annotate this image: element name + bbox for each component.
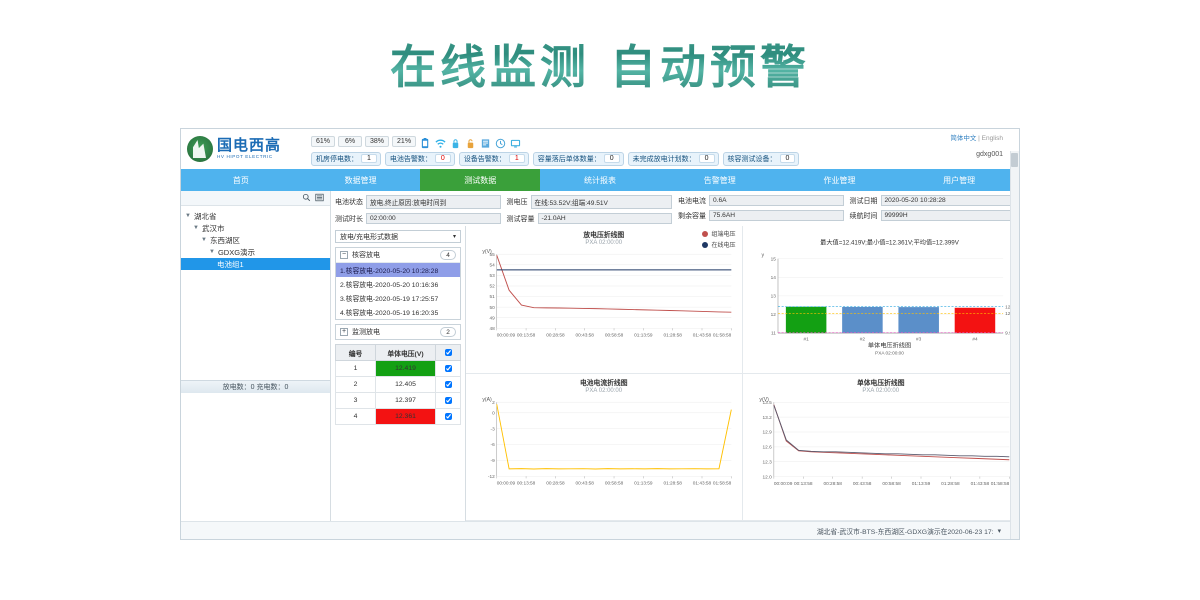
chart-canvas: 最大值=12.419V;最小值=12.361V;平均值=12.399Vy1112… <box>747 236 1016 356</box>
svg-text:00:00:09: 00:00:09 <box>773 480 792 486</box>
row-checkbox-cell[interactable] <box>436 409 461 425</box>
svg-text:01:13:59: 01:13:59 <box>634 480 653 486</box>
summary-fields: 电池状态 放电,终止原因:放电时间到 测试时长 02:00:00 测电压 在线:… <box>331 191 1019 226</box>
cell-voltage-table: 编号 单体电压(V) 1 12.419 <box>335 344 461 425</box>
svg-text:01:58:58: 01:58:58 <box>713 480 732 486</box>
svg-text:单体电压折线图: 单体电压折线图 <box>867 342 910 350</box>
table-row[interactable]: 4 12.361 <box>336 409 461 425</box>
record-panel: 放电/充电形式数据 ▾ − 核容放电 4 1.核容放电-2020-05- <box>331 226 466 521</box>
col-header-no: 编号 <box>336 345 376 361</box>
cell-voltage-bar-chart: . 最大值=12.419V;最小值=12.361V;平均值=12.399Vy11… <box>743 226 1020 374</box>
tree-node-dongxihu[interactable]: ▼ 东西湖区 <box>185 234 330 246</box>
svg-text:00:58:58: 00:58:58 <box>882 480 901 486</box>
svg-text:13: 13 <box>770 294 776 300</box>
row-checkbox[interactable] <box>445 365 452 372</box>
group-label: 监测放电 <box>352 327 380 337</box>
svg-text:12.6: 12.6 <box>762 444 772 450</box>
stat-value: 0 <box>780 154 796 163</box>
chart-canvas: y(V)484950515253545500:00:0900:13:5800:2… <box>470 246 738 349</box>
minus-icon[interactable]: − <box>340 251 348 259</box>
field-value-test-duration: 02:00:00 <box>366 213 501 224</box>
svg-text:00:28:58: 00:28:58 <box>823 480 842 486</box>
scrollbar-thumb[interactable] <box>1011 153 1018 167</box>
svg-text:50: 50 <box>489 305 495 311</box>
legend-marker-online-voltage <box>702 242 708 248</box>
brand-name-cn: 国电西高 <box>217 138 281 153</box>
field-value-test-capacity: -21.0AH <box>538 213 673 224</box>
stat-test-devices[interactable]: 核容测试设备： 0 <box>723 152 800 166</box>
svg-text:最大值=12.419V;最小值=12.361V;平均值=12: 最大值=12.419V;最小值=12.361V;平均值=12.399V <box>820 238 960 246</box>
record-group-monitor-discharge: + 监测放电 2 <box>335 324 461 340</box>
lock-icon[interactable] <box>450 136 461 147</box>
location-tree: ▼ 湖北省 ▼ 武汉市 ▼ 东西湖区 ▼ GDXG演示 电池组1 <box>181 206 330 270</box>
battery-icon[interactable] <box>420 136 431 147</box>
svg-text:00:28:58: 00:28:58 <box>546 333 565 339</box>
svg-text:01:58:58: 01:58:58 <box>990 480 1009 486</box>
svg-text:12.0: 12.0 <box>762 474 772 480</box>
legend-marker-pack-voltage <box>702 231 708 237</box>
svg-text:13.2: 13.2 <box>762 414 772 420</box>
chevron-down-icon[interactable]: ▾ <box>998 527 1001 535</box>
field-value-test-date: 2020-05-20 10:28:28 <box>881 195 1016 206</box>
field-label-test-capacity: 测试容量 <box>507 214 535 224</box>
svg-text:01:58:58: 01:58:58 <box>713 333 732 339</box>
table-row[interactable]: 2 12.405 <box>336 377 461 393</box>
chevron-down-icon: ▼ <box>193 225 199 231</box>
wifi-icon[interactable] <box>435 136 446 147</box>
stat-value: 0 <box>604 154 620 163</box>
field-label-battery-state: 电池状态 <box>335 197 363 207</box>
svg-text:01:43:58: 01:43:58 <box>970 480 989 486</box>
svg-text:01:28:58: 01:28:58 <box>663 333 682 339</box>
app-header: 国电西高 HV HIPOT ELECTRIC 61% 6% 38% 21% <box>181 129 1019 169</box>
cell-voltage: 12.397 <box>376 393 436 409</box>
field-value-voltage: 在线:53.52V;组端:49.51V <box>531 195 673 209</box>
chevron-down-icon: ▾ <box>453 233 456 240</box>
discharge-voltage-chart: 放电压折线图 PXA 02:00:00 组端电压 在线电压 y(V)484950… <box>466 226 743 374</box>
pct-chip-1: 61% <box>311 136 335 147</box>
list-item[interactable]: 4.核容放电-2020-05-19 16:20:35 <box>336 305 460 319</box>
svg-text:00:43:58: 00:43:58 <box>852 480 871 486</box>
svg-text:15: 15 <box>770 256 776 262</box>
svg-text:00:13:58: 00:13:58 <box>517 480 536 486</box>
col-header-cell-voltage: 单体电压(V) <box>376 345 436 361</box>
tree-node-label: 武汉市 <box>202 223 225 234</box>
banner-title: 在线监测 自动预警 <box>390 31 810 97</box>
stat-battery-alarm[interactable]: 电池告警数： 0 <box>385 152 455 166</box>
app-body: ▼ 湖北省 ▼ 武汉市 ▼ 东西湖区 ▼ GDXG演示 电池组1 <box>181 191 1019 521</box>
svg-text:01:13:59: 01:13:59 <box>634 333 653 339</box>
field-label-test-date: 测试日期 <box>850 196 878 206</box>
nav-item-alarm-management[interactable]: 告警管理 <box>660 169 780 191</box>
field-value-endurance-time: 99999H <box>881 210 1016 221</box>
record-group-core-discharge: − 核容放电 4 1.核容放电-2020-05-20 10:28:28 2.核容… <box>335 247 461 320</box>
row-checkbox[interactable] <box>445 397 452 404</box>
svg-text:2: 2 <box>492 399 495 405</box>
nav-item-test-data[interactable]: 测试数据 <box>420 169 540 191</box>
footer-path: 湖北省-武汉市-BTS-东西湖区-GDXG演示在2020-06-23 17: <box>817 526 994 536</box>
main-nav: 首页 数据管理 测试数据 统计报表 告警管理 作业管理 用户管理 <box>181 169 1019 191</box>
svg-text:54: 54 <box>489 262 495 268</box>
row-checkbox-cell[interactable] <box>436 361 461 377</box>
brand-name-en: HV HIPOT ELECTRIC <box>217 155 281 160</box>
record-list: 1.核容放电-2020-05-20 10:28:28 2.核容放电-2020-0… <box>336 262 460 319</box>
report-icon[interactable] <box>480 136 491 147</box>
cell-no: 4 <box>336 409 376 425</box>
group-header[interactable]: + 监测放电 2 <box>336 325 460 339</box>
charts-area: 放电压折线图 PXA 02:00:00 组端电压 在线电压 y(V)484950… <box>466 226 1019 521</box>
stat-label: 机房停电数： <box>316 154 358 164</box>
svg-text:#4: #4 <box>972 336 978 342</box>
nav-item-user-management[interactable]: 用户管理 <box>899 169 1019 191</box>
nav-item-data-management[interactable]: 数据管理 <box>301 169 421 191</box>
svg-text:01:28:58: 01:28:58 <box>663 480 682 486</box>
percentage-row: 61% 6% 38% 21% <box>311 135 1019 149</box>
svg-text:-6: -6 <box>490 442 495 448</box>
svg-text:12: 12 <box>770 312 776 318</box>
svg-text:y(A): y(A) <box>482 397 492 403</box>
header-stats: 61% 6% 38% 21% <box>311 133 1019 166</box>
field-label-endurance-time: 续航时间 <box>850 211 878 221</box>
svg-text:y: y <box>761 253 764 259</box>
svg-text:00:00:09: 00:00:09 <box>497 333 516 339</box>
field-label-remaining-capacity: 剩余容量 <box>678 211 706 221</box>
stat-value: 0 <box>699 154 715 163</box>
field-value-battery-current: 0.6A <box>709 195 844 206</box>
tree-footer-status: 放电数：0 充电数：0 <box>181 380 330 393</box>
nav-item-statistics[interactable]: 统计报表 <box>540 169 660 191</box>
svg-text:00:43:58: 00:43:58 <box>576 480 595 486</box>
group-header[interactable]: − 核容放电 4 <box>336 248 460 262</box>
pct-chip-3: 38% <box>365 136 389 147</box>
stat-label: 核容测试设备： <box>728 154 777 164</box>
cell-no: 1 <box>336 361 376 377</box>
plus-icon[interactable]: + <box>340 328 348 336</box>
legend-label-online-voltage: 在线电压 <box>711 240 735 249</box>
row-checkbox-cell[interactable] <box>436 377 461 393</box>
tree-node-label: 湖北省 <box>194 211 217 222</box>
mode-select-dropdown[interactable]: 放电/充电形式数据 ▾ <box>335 230 461 243</box>
brand-logo[interactable]: 国电西高 HV HIPOT ELECTRIC <box>181 136 311 162</box>
application-window: 国电西高 HV HIPOT ELECTRIC 61% 6% 38% 21% <box>180 128 1020 540</box>
tree-panel: ▼ 湖北省 ▼ 武汉市 ▼ 东西湖区 ▼ GDXG演示 电池组1 <box>181 191 331 521</box>
stat-value: 1 <box>509 154 525 163</box>
row-checkbox-cell[interactable] <box>436 393 461 409</box>
current-user[interactable]: gdxg001 <box>950 151 1003 158</box>
svg-text:00:00:09: 00:00:09 <box>497 480 516 486</box>
clock-icon[interactable] <box>495 136 506 147</box>
stat-value: 1 <box>361 154 377 163</box>
monitor-icon[interactable] <box>510 136 521 147</box>
field-label-test-duration: 测试时长 <box>335 214 363 224</box>
row-checkbox[interactable] <box>445 413 452 420</box>
chevron-down-icon: ▼ <box>201 237 207 243</box>
svg-text:48: 48 <box>489 326 495 332</box>
mode-select-value: 放电/充电形式数据 <box>340 232 398 242</box>
list-item[interactable]: 3.核容放电-2020-05-19 17:25:57 <box>336 291 460 305</box>
col-header-checkbox[interactable] <box>436 345 461 361</box>
search-icon[interactable] <box>302 193 311 204</box>
lang-english-link[interactable]: English <box>982 135 1003 142</box>
cell-no: 3 <box>336 393 376 409</box>
svg-text:PXA 02:00:00: PXA 02:00:00 <box>875 351 904 356</box>
tree-node-label: GDXG演示 <box>218 247 255 258</box>
unlock-icon[interactable] <box>465 136 476 147</box>
language-switcher[interactable]: 简体中文 | English <box>950 132 1003 142</box>
svg-text:#1: #1 <box>803 336 809 342</box>
svg-text:00:58:58: 00:58:58 <box>605 480 624 486</box>
stat-label: 容量落后单体数量： <box>538 154 601 164</box>
svg-text:14: 14 <box>770 275 776 281</box>
stat-device-alarm[interactable]: 设备告警数： 1 <box>459 152 529 166</box>
svg-text:-9: -9 <box>490 458 495 464</box>
tree-node-label: 东西湖区 <box>210 235 240 246</box>
cell-voltage: 12.361 <box>376 409 436 425</box>
tree-toolbar <box>181 191 330 206</box>
svg-text:-12: -12 <box>488 473 495 479</box>
stat-lagging-cells[interactable]: 容量落后单体数量： 0 <box>533 152 624 166</box>
header-right: 简体中文 | English gdxg001 <box>950 132 1003 158</box>
chart-canvas: y(V)13.513.212.912.612.312.000:00:0900:1… <box>747 394 1016 497</box>
stat-row: 机房停电数： 1 电池告警数： 0 设备告警数： 1 容量落后单体数量： 0 未… <box>311 152 1019 166</box>
cell-voltage-line-chart: 单体电压折线图 PXA 02:00:00 y(V)13.513.212.912.… <box>743 374 1020 522</box>
field-value-battery-state: 放电,终止原因:放电时间到 <box>366 195 501 209</box>
chevron-down-icon: ▼ <box>185 213 191 219</box>
lang-chinese-link[interactable]: 简体中文 <box>950 135 976 142</box>
tree-node-hubei[interactable]: ▼ 湖北省 <box>185 210 330 222</box>
legend-label-pack-voltage: 组端电压 <box>711 229 735 238</box>
svg-text:01:43:58: 01:43:58 <box>693 480 712 486</box>
chevron-down-icon: ▼ <box>209 249 215 255</box>
nav-item-home[interactable]: 首页 <box>181 169 301 191</box>
cell-voltage: 12.405 <box>376 377 436 393</box>
pct-chip-4: 21% <box>392 136 416 147</box>
company-logo-icon <box>187 136 213 162</box>
stat-label: 电池告警数： <box>390 154 432 164</box>
page-banner: 在线监测 自动预警 <box>0 0 1200 128</box>
chart-canvas: y(A)20-3-6-9-1200:00:0900:13:5800:28:580… <box>470 394 738 497</box>
svg-text:52: 52 <box>489 284 495 290</box>
app-footer: 湖北省-武汉市-BTS-东西湖区-GDXG演示在2020-06-23 17: ▾ <box>181 521 1019 539</box>
tree-node-gdxg-demo[interactable]: ▼ GDXG演示 <box>185 246 330 258</box>
svg-text:51: 51 <box>489 294 495 300</box>
cell-no: 2 <box>336 377 376 393</box>
chart-title: 单体电压折线图 <box>747 377 1016 387</box>
list-item[interactable]: 1.核容放电-2020-05-20 10:28:28 <box>336 263 460 277</box>
svg-text:12.3: 12.3 <box>762 459 772 465</box>
svg-text:00:13:58: 00:13:58 <box>794 480 813 486</box>
chart-title: 放电压折线图 <box>470 229 738 239</box>
svg-text:13.5: 13.5 <box>762 399 772 405</box>
group-label: 核容放电 <box>352 250 380 260</box>
svg-text:00:58:58: 00:58:58 <box>605 333 624 339</box>
select-all-checkbox[interactable] <box>445 349 452 356</box>
list-item[interactable]: 2.核容放电-2020-05-20 10:16:36 <box>336 277 460 291</box>
cell-voltage: 12.419 <box>376 361 436 377</box>
table-row[interactable]: 1 12.419 <box>336 361 461 377</box>
vertical-scrollbar[interactable] <box>1010 151 1019 539</box>
svg-text:53: 53 <box>489 273 495 279</box>
field-label-battery-current: 电池电流 <box>678 196 706 206</box>
table-row[interactable]: 3 12.397 <box>336 393 461 409</box>
svg-text:00:13:58: 00:13:58 <box>517 333 536 339</box>
stat-label: 未完成放电计划数： <box>633 154 696 164</box>
table-header-row: 编号 单体电压(V) <box>336 345 461 361</box>
stat-value: 0 <box>435 154 451 163</box>
svg-text:55: 55 <box>489 252 495 258</box>
stat-label: 设备告警数： <box>464 154 506 164</box>
svg-text:#2: #2 <box>859 336 865 342</box>
svg-text:12.9: 12.9 <box>762 429 772 435</box>
tree-node-label: 电池组1 <box>217 259 244 270</box>
group-count-badge: 4 <box>440 250 456 260</box>
stat-power-outage[interactable]: 机房停电数： 1 <box>311 152 381 166</box>
pct-chip-2: 6% <box>338 136 362 147</box>
list-icon[interactable] <box>315 193 324 204</box>
svg-text:01:28:58: 01:28:58 <box>941 480 960 486</box>
battery-current-chart: 电池电流折线图 PXA 02:00:00 y(A)20-3-6-9-1200:0… <box>466 374 743 522</box>
svg-text:0: 0 <box>492 410 495 416</box>
svg-text:00:28:58: 00:28:58 <box>546 480 565 486</box>
svg-text:-3: -3 <box>490 426 495 432</box>
svg-text:00:43:58: 00:43:58 <box>576 333 595 339</box>
field-label-voltage: 测电压 <box>507 197 528 207</box>
nav-item-job-management[interactable]: 作业管理 <box>780 169 900 191</box>
svg-text:01:13:59: 01:13:59 <box>911 480 930 486</box>
stat-unfinished-plans[interactable]: 未完成放电计划数： 0 <box>628 152 719 166</box>
svg-text:#3: #3 <box>916 336 922 342</box>
chart-title: 电池电流折线图 <box>470 377 738 387</box>
chart-legend: 组端电压 在线电压 <box>702 229 735 251</box>
group-count-badge: 2 <box>440 327 456 337</box>
tree-node-battery-group-1[interactable]: 电池组1 <box>181 258 330 270</box>
svg-text:01:43:58: 01:43:58 <box>693 333 712 339</box>
field-value-remaining-capacity: 75.6AH <box>709 210 844 221</box>
svg-text:11: 11 <box>771 331 776 337</box>
svg-text:49: 49 <box>489 315 495 321</box>
tree-node-wuhan[interactable]: ▼ 武汉市 <box>185 222 330 234</box>
row-checkbox[interactable] <box>445 381 452 388</box>
